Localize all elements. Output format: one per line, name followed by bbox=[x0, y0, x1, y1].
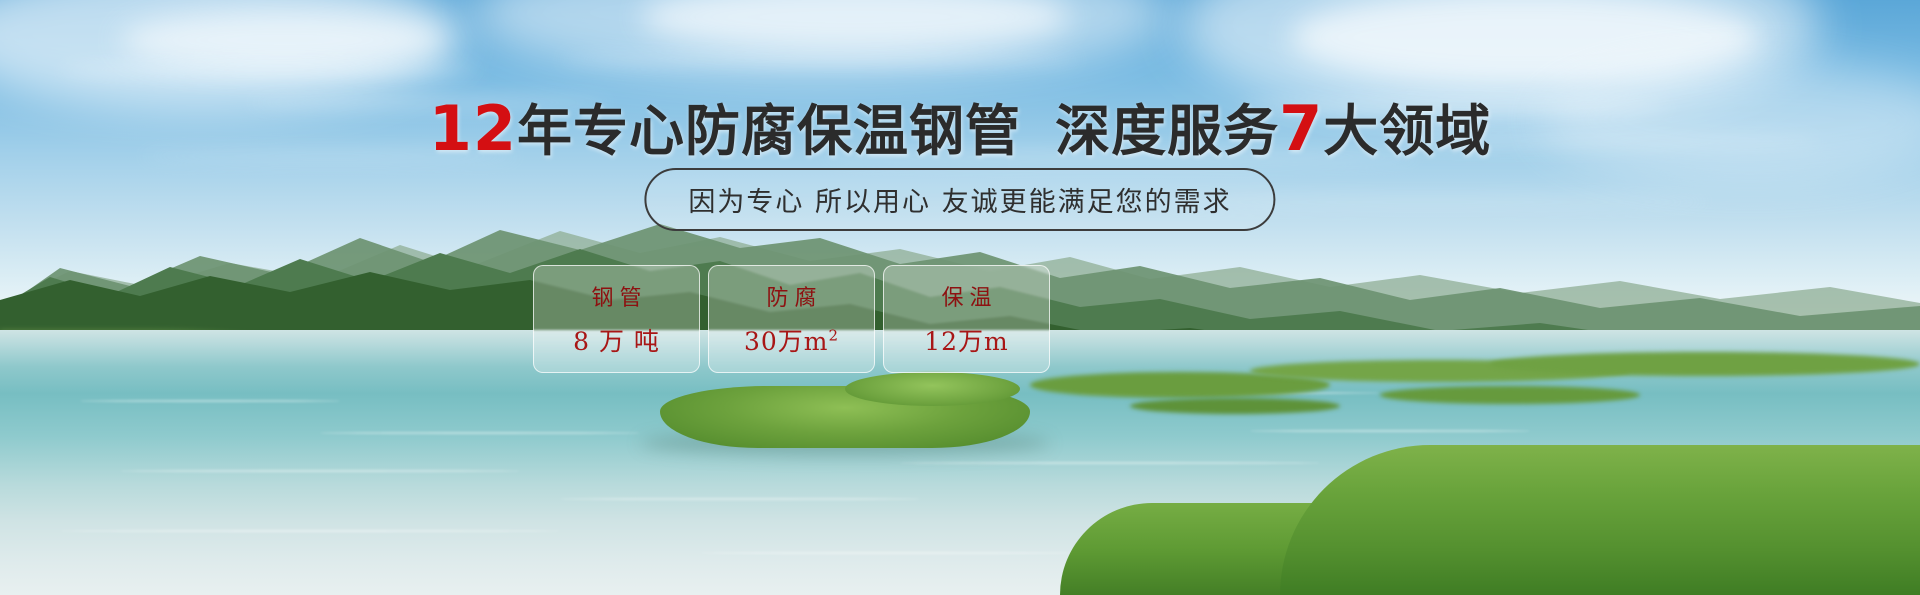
stat-card-value-main: 8 万 吨 bbox=[573, 327, 660, 356]
page-title: 12年专心防腐保温钢管深度服务7大领域 bbox=[0, 86, 1920, 166]
subtitle-pill: 因为专心 所以用心 友诚更能满足您的需求 bbox=[644, 168, 1275, 231]
grass-island bbox=[845, 372, 1020, 406]
cloud-shape bbox=[120, 10, 450, 70]
headline-seven-number: 7 bbox=[1279, 92, 1323, 165]
stat-card-value: 30万m2 bbox=[744, 322, 839, 358]
water-ripple bbox=[320, 432, 640, 434]
stat-card-label: 钢管 bbox=[585, 280, 647, 312]
stat-card-value-main: 12万m bbox=[924, 327, 1009, 356]
water-ripple bbox=[120, 470, 520, 472]
water-ripple bbox=[80, 400, 340, 402]
water-ripple bbox=[560, 498, 920, 500]
headline-segment-3: 大领域 bbox=[1323, 99, 1491, 163]
water-ripple bbox=[700, 552, 1080, 554]
cloud-shape bbox=[60, 62, 480, 78]
stat-card-value: 12万m bbox=[924, 322, 1009, 358]
water-ripple bbox=[1250, 430, 1530, 432]
headline-years-number: 12 bbox=[429, 92, 517, 165]
marsh-patch bbox=[1490, 352, 1920, 376]
marsh-patch bbox=[1380, 386, 1640, 404]
headline-segment-1: 年专心防腐保温钢管 bbox=[517, 99, 1021, 163]
stat-card-value: 8 万 吨 bbox=[573, 322, 660, 358]
water-ripple bbox=[900, 462, 1320, 464]
stat-card-steel-pipe[interactable]: 钢管 8 万 吨 bbox=[533, 265, 700, 373]
stat-card-label: 防腐 bbox=[760, 280, 822, 312]
cloud-shape bbox=[470, 0, 1170, 80]
stat-card-insulation[interactable]: 保温 12万m bbox=[883, 265, 1050, 373]
water-ripple bbox=[60, 530, 560, 532]
subtitle-text: 因为专心 所以用心 友诚更能满足您的需求 bbox=[688, 187, 1231, 218]
hero-banner: 12年专心防腐保温钢管深度服务7大领域 因为专心 所以用心 友诚更能满足您的需求… bbox=[0, 0, 1920, 595]
cloud-shape bbox=[640, 0, 1070, 52]
cloud-shape bbox=[560, 52, 1080, 67]
stat-card-anticorrosion[interactable]: 防腐 30万m2 bbox=[708, 265, 875, 373]
cloud-shape bbox=[1290, 0, 1760, 85]
grass-field bbox=[1280, 445, 1920, 595]
marsh-patch bbox=[1130, 398, 1340, 414]
stat-card-value-main: 30万m bbox=[744, 327, 829, 356]
stat-card-label: 保温 bbox=[935, 280, 997, 312]
stats-card-group: 钢管 8 万 吨 防腐 30万m2 保温 12万m bbox=[533, 265, 1050, 373]
stat-card-value-superscript: 2 bbox=[828, 327, 839, 345]
headline-segment-2: 深度服务 bbox=[1055, 99, 1279, 163]
